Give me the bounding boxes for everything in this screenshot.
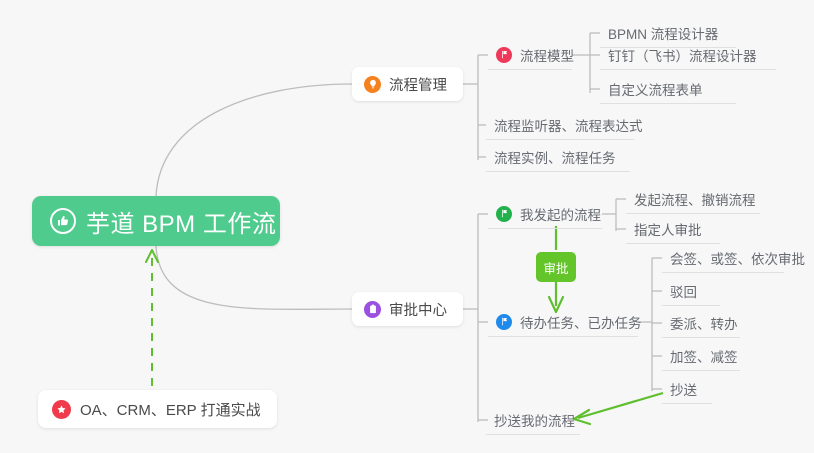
node-cc-to-me[interactable]: 抄送我的流程 <box>486 405 580 435</box>
approval-tag-label: 审批 <box>543 258 568 277</box>
node-process-listener[interactable]: 流程监听器、流程表达式 <box>486 110 634 140</box>
node-label: 抄送我的流程 <box>494 410 575 430</box>
node-process-model[interactable]: 流程模型 <box>488 40 572 70</box>
node-label: 待办任务、已办任务 <box>520 312 642 332</box>
node-my-initiated[interactable]: 我发起的流程 <box>488 199 602 229</box>
approval-tag[interactable]: 审批 <box>536 252 576 282</box>
bottom-note-label: OA、CRM、ERP 打通实战 <box>80 399 261 420</box>
node-label: 发起流程、撤销流程 <box>634 189 756 209</box>
root-node[interactable]: 芋道 BPM 工作流 <box>32 196 280 246</box>
node-label: 驳回 <box>670 281 697 301</box>
flag-icon-green <box>496 206 512 222</box>
node-dingtalk-feishu-designer[interactable]: 钉钉（飞书）流程设计器 <box>600 40 776 70</box>
bottom-note-card[interactable]: OA、CRM、ERP 打通实战 <box>38 390 277 428</box>
node-add-remove-sign[interactable]: 加签、减签 <box>662 341 740 371</box>
edge-root-to-approval-center <box>156 246 352 309</box>
node-custom-process-form[interactable]: 自定义流程表单 <box>600 74 736 104</box>
cc-arrow <box>574 393 663 424</box>
node-label: 钉钉（飞书）流程设计器 <box>608 45 757 65</box>
node-label: 我发起的流程 <box>520 204 601 224</box>
node-label: 流程实例、流程任务 <box>494 147 616 167</box>
node-label: 流程监听器、流程表达式 <box>494 115 643 135</box>
root-label: 芋道 BPM 工作流 <box>86 204 276 239</box>
node-label: 会签、或签、依次审批 <box>670 248 805 268</box>
node-start-cancel-process[interactable]: 发起流程、撤销流程 <box>626 184 760 214</box>
branch-label: 审批中心 <box>389 299 447 320</box>
node-label: 自定义流程表单 <box>608 79 703 99</box>
branch-label: 流程管理 <box>389 74 447 95</box>
edge-root-to-process-management <box>156 84 352 196</box>
lightbulb-icon <box>364 76 381 93</box>
node-process-instance[interactable]: 流程实例、流程任务 <box>486 142 630 172</box>
mindmap-canvas: 芋道 BPM 工作流 流程管理 流程模型 BPMN 流程设计器 钉钉（飞书）流程… <box>0 0 814 453</box>
flag-icon-red <box>496 47 512 63</box>
node-label: 委派、转办 <box>670 313 738 333</box>
node-assignee-approval[interactable]: 指定人审批 <box>626 214 720 244</box>
clipboard-icon <box>364 301 381 318</box>
node-reject[interactable]: 驳回 <box>662 276 720 306</box>
node-delegate-transfer[interactable]: 委派、转办 <box>662 308 740 338</box>
branch-approval-center[interactable]: 审批中心 <box>352 292 463 326</box>
branch-process-management[interactable]: 流程管理 <box>352 67 463 101</box>
node-label: 抄送 <box>670 379 697 399</box>
node-todo-done-tasks[interactable]: 待办任务、已办任务 <box>488 307 638 337</box>
thumbs-up-icon <box>50 208 76 234</box>
dashed-green-arrow <box>146 250 158 386</box>
node-cc[interactable]: 抄送 <box>662 374 712 404</box>
flag-icon-blue <box>496 314 512 330</box>
node-label: 流程模型 <box>520 45 574 65</box>
node-label: 加签、减签 <box>670 346 738 366</box>
node-countersign[interactable]: 会签、或签、依次审批 <box>662 243 784 273</box>
node-label: 指定人审批 <box>634 219 702 239</box>
star-icon <box>52 400 71 419</box>
